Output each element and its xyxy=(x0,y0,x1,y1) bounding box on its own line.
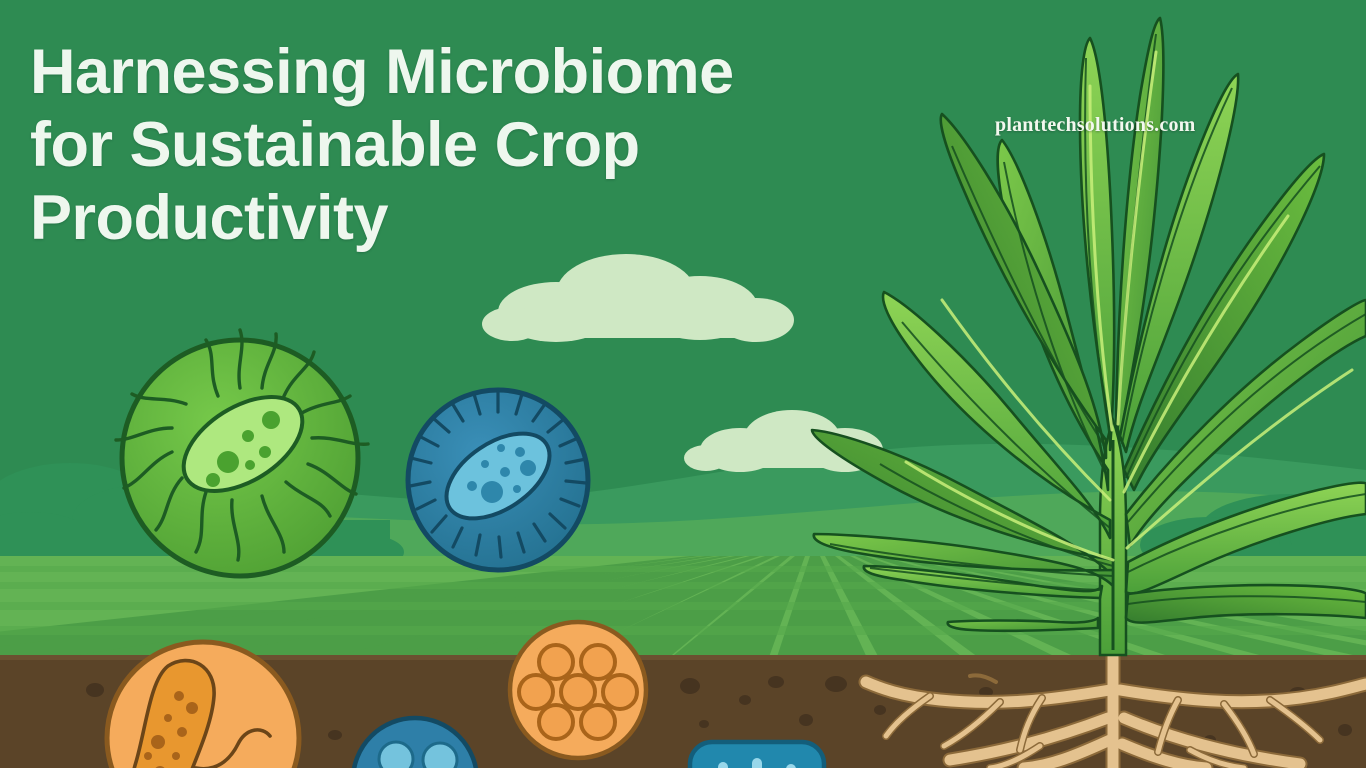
plant-stem xyxy=(1100,420,1126,655)
illustration-banner: Harnessing Microbiome for Sustainable Cr… xyxy=(0,0,1366,768)
microbe-badge-teal-rounded xyxy=(690,742,824,768)
page-title: Harnessing Microbiome for Sustainable Cr… xyxy=(30,36,930,255)
microbe-badge-orange-cocci xyxy=(510,622,646,758)
watermark-url: planttechsolutions.com xyxy=(995,114,1196,137)
microbe-badge-blue-ciliate xyxy=(408,390,588,570)
